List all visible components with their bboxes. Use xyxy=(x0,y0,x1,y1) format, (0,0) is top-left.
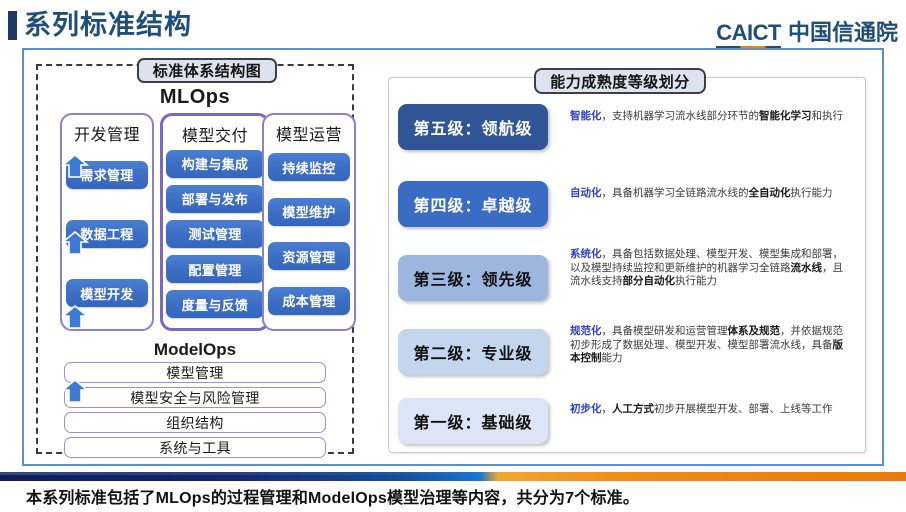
maturity-level-badge: 能力成熟度等级划分 xyxy=(534,68,706,94)
mlops-column-model-operations: 模型运营 持续监控 模型维护 资源管理 成本管理 xyxy=(262,113,356,331)
level-desc-before: ，具备模型研发和运营管理 xyxy=(602,325,728,337)
title-accent-bar xyxy=(8,11,17,40)
level-desc-bold: 人工方式 xyxy=(612,403,654,415)
mlops-item[interactable]: 测试管理 xyxy=(166,220,264,248)
standard-system-diagram-badge: 标准体系结构图 xyxy=(137,58,277,83)
level-desc-bold2: 部分自动化 xyxy=(623,275,676,287)
maturity-level-box-1[interactable]: 第一级：基础级 xyxy=(398,398,548,444)
arrow-up-icon xyxy=(61,231,89,255)
mlops-column-items: 构建与集成 部署与发布 测试管理 配置管理 度量与反馈 xyxy=(163,146,267,322)
maturity-level-desc-4: 自动化，具备机器学习全链路流水线的全自动化执行能力 xyxy=(570,187,852,201)
mlops-item[interactable]: 构建与集成 xyxy=(166,150,264,178)
level-keyword: 系统化 xyxy=(570,248,602,260)
mlops-column-development-management: 开发管理 需求管理 数据工程 模型开发 xyxy=(60,113,154,331)
level-desc-bold: 全自动化 xyxy=(749,187,791,199)
mlops-column-title: 模型交付 xyxy=(163,122,267,146)
page-title: 系列标准结构 xyxy=(24,8,192,42)
maturity-level-box-4[interactable]: 第四级：卓越级 xyxy=(398,181,548,227)
level-desc-after: 初步开展模型开发、部署、上线等工作 xyxy=(654,403,833,415)
mlops-item[interactable]: 度量与反馈 xyxy=(166,290,264,318)
maturity-level-desc-3: 系统化，具备包括数据处理、模型开发、模型集成和部署，以及模型持续监控和更新维护的… xyxy=(570,248,852,289)
mlops-heading: MLOps xyxy=(36,86,354,109)
level-desc-after: 和执行 xyxy=(812,110,844,122)
modelops-item[interactable]: 模型管理 xyxy=(64,362,326,383)
level-desc-bold: 流水线 xyxy=(791,262,823,274)
level-desc-after: 执行能力 xyxy=(791,187,833,199)
brand-logo: CAICT 中国信通院 xyxy=(716,15,898,49)
brand-name-cn: 中国信通院 xyxy=(788,15,898,47)
modelops-item[interactable]: 系统与工具 xyxy=(64,437,326,458)
modelops-list: 模型管理 模型安全与风险管理 组织结构 系统与工具 xyxy=(64,362,326,462)
arrow-up-icon xyxy=(61,379,89,403)
level-desc-bold: 体系及规范 xyxy=(728,325,781,337)
level-keyword: 智能化 xyxy=(570,110,602,122)
mlops-item[interactable]: 资源管理 xyxy=(268,242,350,270)
level-keyword: 自动化 xyxy=(570,187,602,199)
page-header: 系列标准结构 CAICT 中国信通院 xyxy=(0,0,906,48)
footer-note: 本系列标准包括了MLOps的过程管理和ModelOps模型治理等内容，共分为7个… xyxy=(26,484,886,508)
mlops-item[interactable]: 模型维护 xyxy=(268,198,350,226)
level-keyword: 规范化 xyxy=(570,325,602,337)
mlops-item[interactable]: 模型开发 xyxy=(66,279,148,307)
modelops-item[interactable]: 组织结构 xyxy=(64,412,326,433)
maturity-level-box-2[interactable]: 第二级：专业级 xyxy=(398,329,548,375)
level-desc-after: 执行能力 xyxy=(675,275,717,287)
mlops-item[interactable]: 部署与发布 xyxy=(166,185,264,213)
level-desc-after: 能力 xyxy=(602,352,623,364)
mlops-column-items: 持续监控 模型维护 资源管理 成本管理 xyxy=(264,145,354,323)
level-desc-before: ，具备机器学习全链路流水线的 xyxy=(602,187,749,199)
maturity-level-box-5[interactable]: 第五级：领航级 xyxy=(398,104,548,150)
level-desc-before: ， xyxy=(602,403,613,415)
mlops-item[interactable]: 持续监控 xyxy=(268,153,350,181)
mlops-item[interactable]: 配置管理 xyxy=(166,255,264,283)
level-keyword: 初步化 xyxy=(570,403,602,415)
modelops-item[interactable]: 模型安全与风险管理 xyxy=(64,387,326,408)
maturity-level-desc-1: 初步化，人工方式初步开展模型开发、部署、上线等工作 xyxy=(570,403,852,417)
arrow-up-icon xyxy=(61,154,89,178)
modelops-heading: ModelOps xyxy=(36,340,354,360)
maturity-level-desc-5: 智能化，支持机器学习流水线部分环节的智能化学习和执行 xyxy=(570,110,852,124)
level-desc-before: ，支持机器学习流水线部分环节的 xyxy=(602,110,760,122)
arrow-up-icon xyxy=(61,305,89,329)
mlops-column-model-delivery: 模型交付 构建与集成 部署与发布 测试管理 配置管理 度量与反馈 xyxy=(160,113,270,331)
mlops-item[interactable]: 成本管理 xyxy=(268,287,350,315)
maturity-level-box-3[interactable]: 第三级：领先级 xyxy=(398,255,548,301)
footer-gradient-highlight xyxy=(0,472,906,475)
maturity-level-desc-2: 规范化，具备模型研发和运营管理体系及规范，并依据规范初步形成了数据处理、模型开发… xyxy=(570,325,852,366)
level-desc-bold: 智能化学习 xyxy=(759,110,812,122)
brand-abbreviation: CAICT xyxy=(716,20,781,49)
mlops-column-title: 开发管理 xyxy=(62,121,152,145)
mlops-column-title: 模型运营 xyxy=(264,121,354,145)
